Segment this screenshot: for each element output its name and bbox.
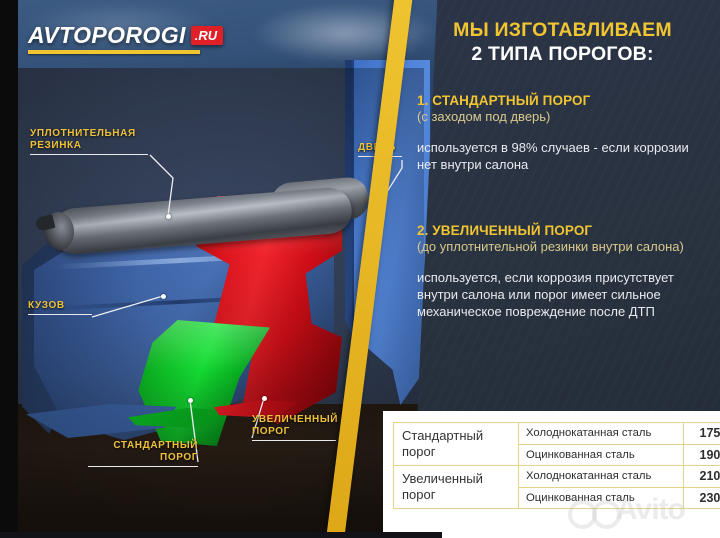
- table-row: Увеличенный порог Холоднокатанная сталь …: [394, 466, 720, 488]
- price-row-name: Стандартный порог: [394, 423, 519, 466]
- callout-enlarged-sill-label: УВЕЛИЧЕННЫЙ ПОРОГ: [252, 414, 338, 438]
- callout-standard-sill: СТАНДАРТНЫЙ ПОРОГ: [88, 440, 198, 467]
- price-row-name: Увеличенный порог: [394, 466, 519, 509]
- callout-rubber-seal-label: УПЛОТНИТЕЛЬНАЯ РЕЗИНКА: [30, 128, 148, 152]
- price-table: Стандартный порог Холоднокатанная сталь …: [393, 422, 720, 509]
- logo-wordmark: AVTOPOROGI: [28, 22, 186, 49]
- price-row-material: Холоднокатанная сталь: [519, 466, 684, 488]
- callout-underline: [30, 154, 148, 155]
- price-table-container: Стандартный порог Холоднокатанная сталь …: [383, 411, 720, 538]
- leader-dot-seal: [166, 214, 171, 219]
- price-row-value: 2300р.: [684, 487, 720, 509]
- callout-underline: [252, 440, 336, 441]
- sill-type-block-enlarged: 2. УВЕЛИЧЕННЫЙ ПОРОГ (до уплотнительной …: [417, 222, 707, 320]
- leader-dot-enlarged: [262, 396, 267, 401]
- price-row-value: 1900р.: [684, 444, 720, 466]
- price-row-material: Оцинкованная сталь: [519, 444, 684, 466]
- callout-standard-sill-label: СТАНДАРТНЫЙ ПОРОГ: [88, 440, 198, 464]
- callout-rubber-seal: УПЛОТНИТЕЛЬНАЯ РЕЗИНКА: [30, 128, 148, 155]
- price-row-material: Холоднокатанная сталь: [519, 423, 684, 445]
- price-row-value: 1750р.: [684, 423, 720, 445]
- headline-line-2: 2 ТИПА ПОРОГОВ:: [420, 42, 705, 66]
- callout-car-body: КУЗОВ: [28, 300, 92, 315]
- logo-tld-badge: .RU: [191, 26, 223, 45]
- sill-type-title: 1. СТАНДАРТНЫЙ ПОРОГ: [417, 92, 707, 109]
- sill-type-subtitle: (с заходом под дверь): [417, 109, 707, 126]
- sill-type-subtitle: (до уплотнительной резинки внутри салона…: [417, 239, 707, 256]
- callout-enlarged-sill: УВЕЛИЧЕННЫЙ ПОРОГ: [252, 414, 338, 441]
- headline-line-1: МЫ ИЗГОТАВЛИВАЕМ: [420, 18, 705, 42]
- left-frame-edge: [0, 0, 18, 538]
- leader-dot-body: [161, 294, 166, 299]
- sill-type-description: используется в 98% случаев - если корроз…: [417, 139, 707, 173]
- page-title: МЫ ИЗГОТАВЛИВАЕМ 2 ТИПА ПОРОГОВ:: [420, 18, 705, 66]
- sill-type-description: используется, если коррозия присутствует…: [417, 269, 707, 320]
- callout-underline: [88, 466, 198, 467]
- sill-type-title: 2. УВЕЛИЧЕННЫЙ ПОРОГ: [417, 222, 707, 239]
- infographic-banner: УПЛОТНИТЕЛЬНАЯ РЕЗИНКА КУЗОВ ДВЕРЬ СТАНД…: [0, 0, 720, 538]
- site-logo[interactable]: AVTOPOROGI .RU: [28, 22, 223, 54]
- bottom-frame-edge: [0, 532, 442, 538]
- logo-underline-bar: [28, 50, 200, 54]
- leader-dot-standard: [188, 398, 193, 403]
- price-row-value: 2100р.: [684, 466, 720, 488]
- callout-car-body-label: КУЗОВ: [28, 300, 92, 312]
- logo-row: AVTOPOROGI .RU: [28, 22, 223, 49]
- table-row: Стандартный порог Холоднокатанная сталь …: [394, 423, 720, 445]
- callout-underline: [28, 314, 92, 315]
- sill-type-block-standard: 1. СТАНДАРТНЫЙ ПОРОГ (с заходом под двер…: [417, 92, 707, 173]
- price-row-material: Оцинкованная сталь: [519, 487, 684, 509]
